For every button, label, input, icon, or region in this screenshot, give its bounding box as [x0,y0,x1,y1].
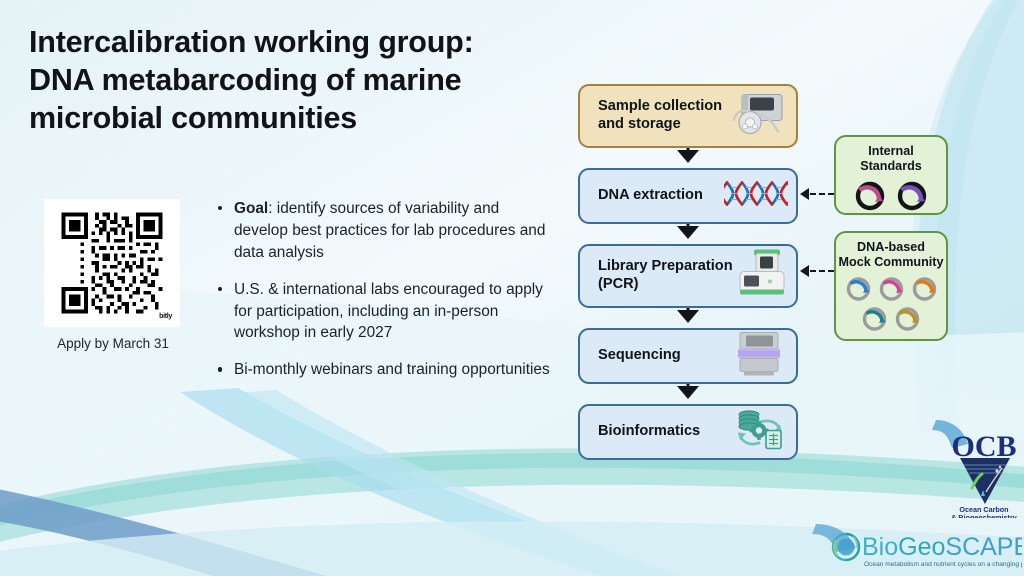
qr-code[interactable]: bitly [44,199,180,327]
plasmid-icon [875,274,908,304]
plasmid-icon [858,304,891,334]
qr-watermark: bitly [159,313,172,320]
qr-block: bitly Apply by March 31 [44,199,180,327]
biogeoscapes-mark [833,534,859,560]
flow-arrow [677,386,699,399]
flow-step-label: Library Preparation(PCR) [580,258,733,294]
bullet-lead: Goal [234,200,268,217]
peristaltic-pump-icon [726,90,788,143]
thermocycler-icon [730,248,788,305]
plasmid-icon [891,178,933,212]
dashed-line [810,270,834,272]
bullet-text: Bi-monthly webinars and training opportu… [234,361,550,378]
side-box-internal-standards[interactable]: Internal Standards [834,135,948,215]
side-box-mock-community[interactable]: DNA-based Mock Community [834,231,948,341]
title-line-1: Intercalibration working group: [29,24,569,62]
biogeoscapes-logo: BioGeoSCAPES Ocean metabolism and nutrie… [826,526,1022,576]
plasmid-icon [891,304,924,334]
biogeoscapes-wordmark: BioGeoSCAPES [862,533,1022,561]
flow-step-sequencing[interactable]: Sequencing [578,328,798,384]
side-box-title: Internal Standards [860,144,922,174]
title-line-3: microbial communities [29,100,569,138]
plasmid-icon [908,274,941,304]
arrow-head-left-icon [800,188,809,200]
flow-step-label: Sequencing [580,347,681,365]
link-mock-community-to-library-prep [800,265,834,277]
flow-step-sample-collection[interactable]: Sample collectionand storage [578,84,798,148]
flow-step-label: DNA extraction [580,187,703,205]
bullet-text: U.S. & international labs encouraged to … [234,281,543,342]
dna-helix-icon [724,179,788,214]
side-box-title: DNA-based Mock Community [839,240,944,270]
list-item: Goal: identify sources of variability an… [212,198,552,264]
flow-step-label: Sample collectionand storage [580,98,722,134]
flow-step-label: Bioinformatics [580,423,700,441]
flow-step-library-preparation[interactable]: Library Preparation(PCR) [578,244,798,308]
flow-arrow [677,226,699,239]
list-item: Bi-monthly webinars and training opportu… [212,359,552,381]
flow-step-bioinformatics[interactable]: Bioinformatics [578,404,798,460]
ocb-logo: OCB Ocean Carbon & Biogeochemistry [948,430,1020,523]
qr-caption: Apply by March 31 [42,336,184,351]
ocb-tagline-line-2: & Biogeochemistry [951,513,1017,518]
page-title: Intercalibration working group: DNA meta… [29,24,569,137]
plasmid-group [839,274,943,334]
bullet-list: Goal: identify sources of variability an… [212,198,552,396]
title-line-2: DNA metabarcoding of marine [29,62,569,100]
plasmid-icon [842,274,875,304]
plasmid-group [849,178,933,212]
plasmid-icon [849,178,891,212]
list-item: U.S. & international labs encouraged to … [212,279,552,345]
sequencer-icon [730,330,788,383]
dashed-line [810,193,834,195]
flow-arrow [677,310,699,323]
biogeoscapes-tagline: Ocean metabolism and nutrient cycles on … [864,561,1022,568]
bullet-text: : identify sources of variability and de… [234,200,545,261]
qr-code-graphic [58,209,166,317]
flow-step-dna-extraction[interactable]: DNA extraction [578,168,798,224]
link-internal-standards-to-dna-extraction [800,188,834,200]
flow-arrow [677,150,699,163]
slide-canvas: Intercalibration working group: DNA meta… [0,0,1024,576]
database-gear-icon [732,407,788,458]
arrow-head-left-icon [800,265,809,277]
